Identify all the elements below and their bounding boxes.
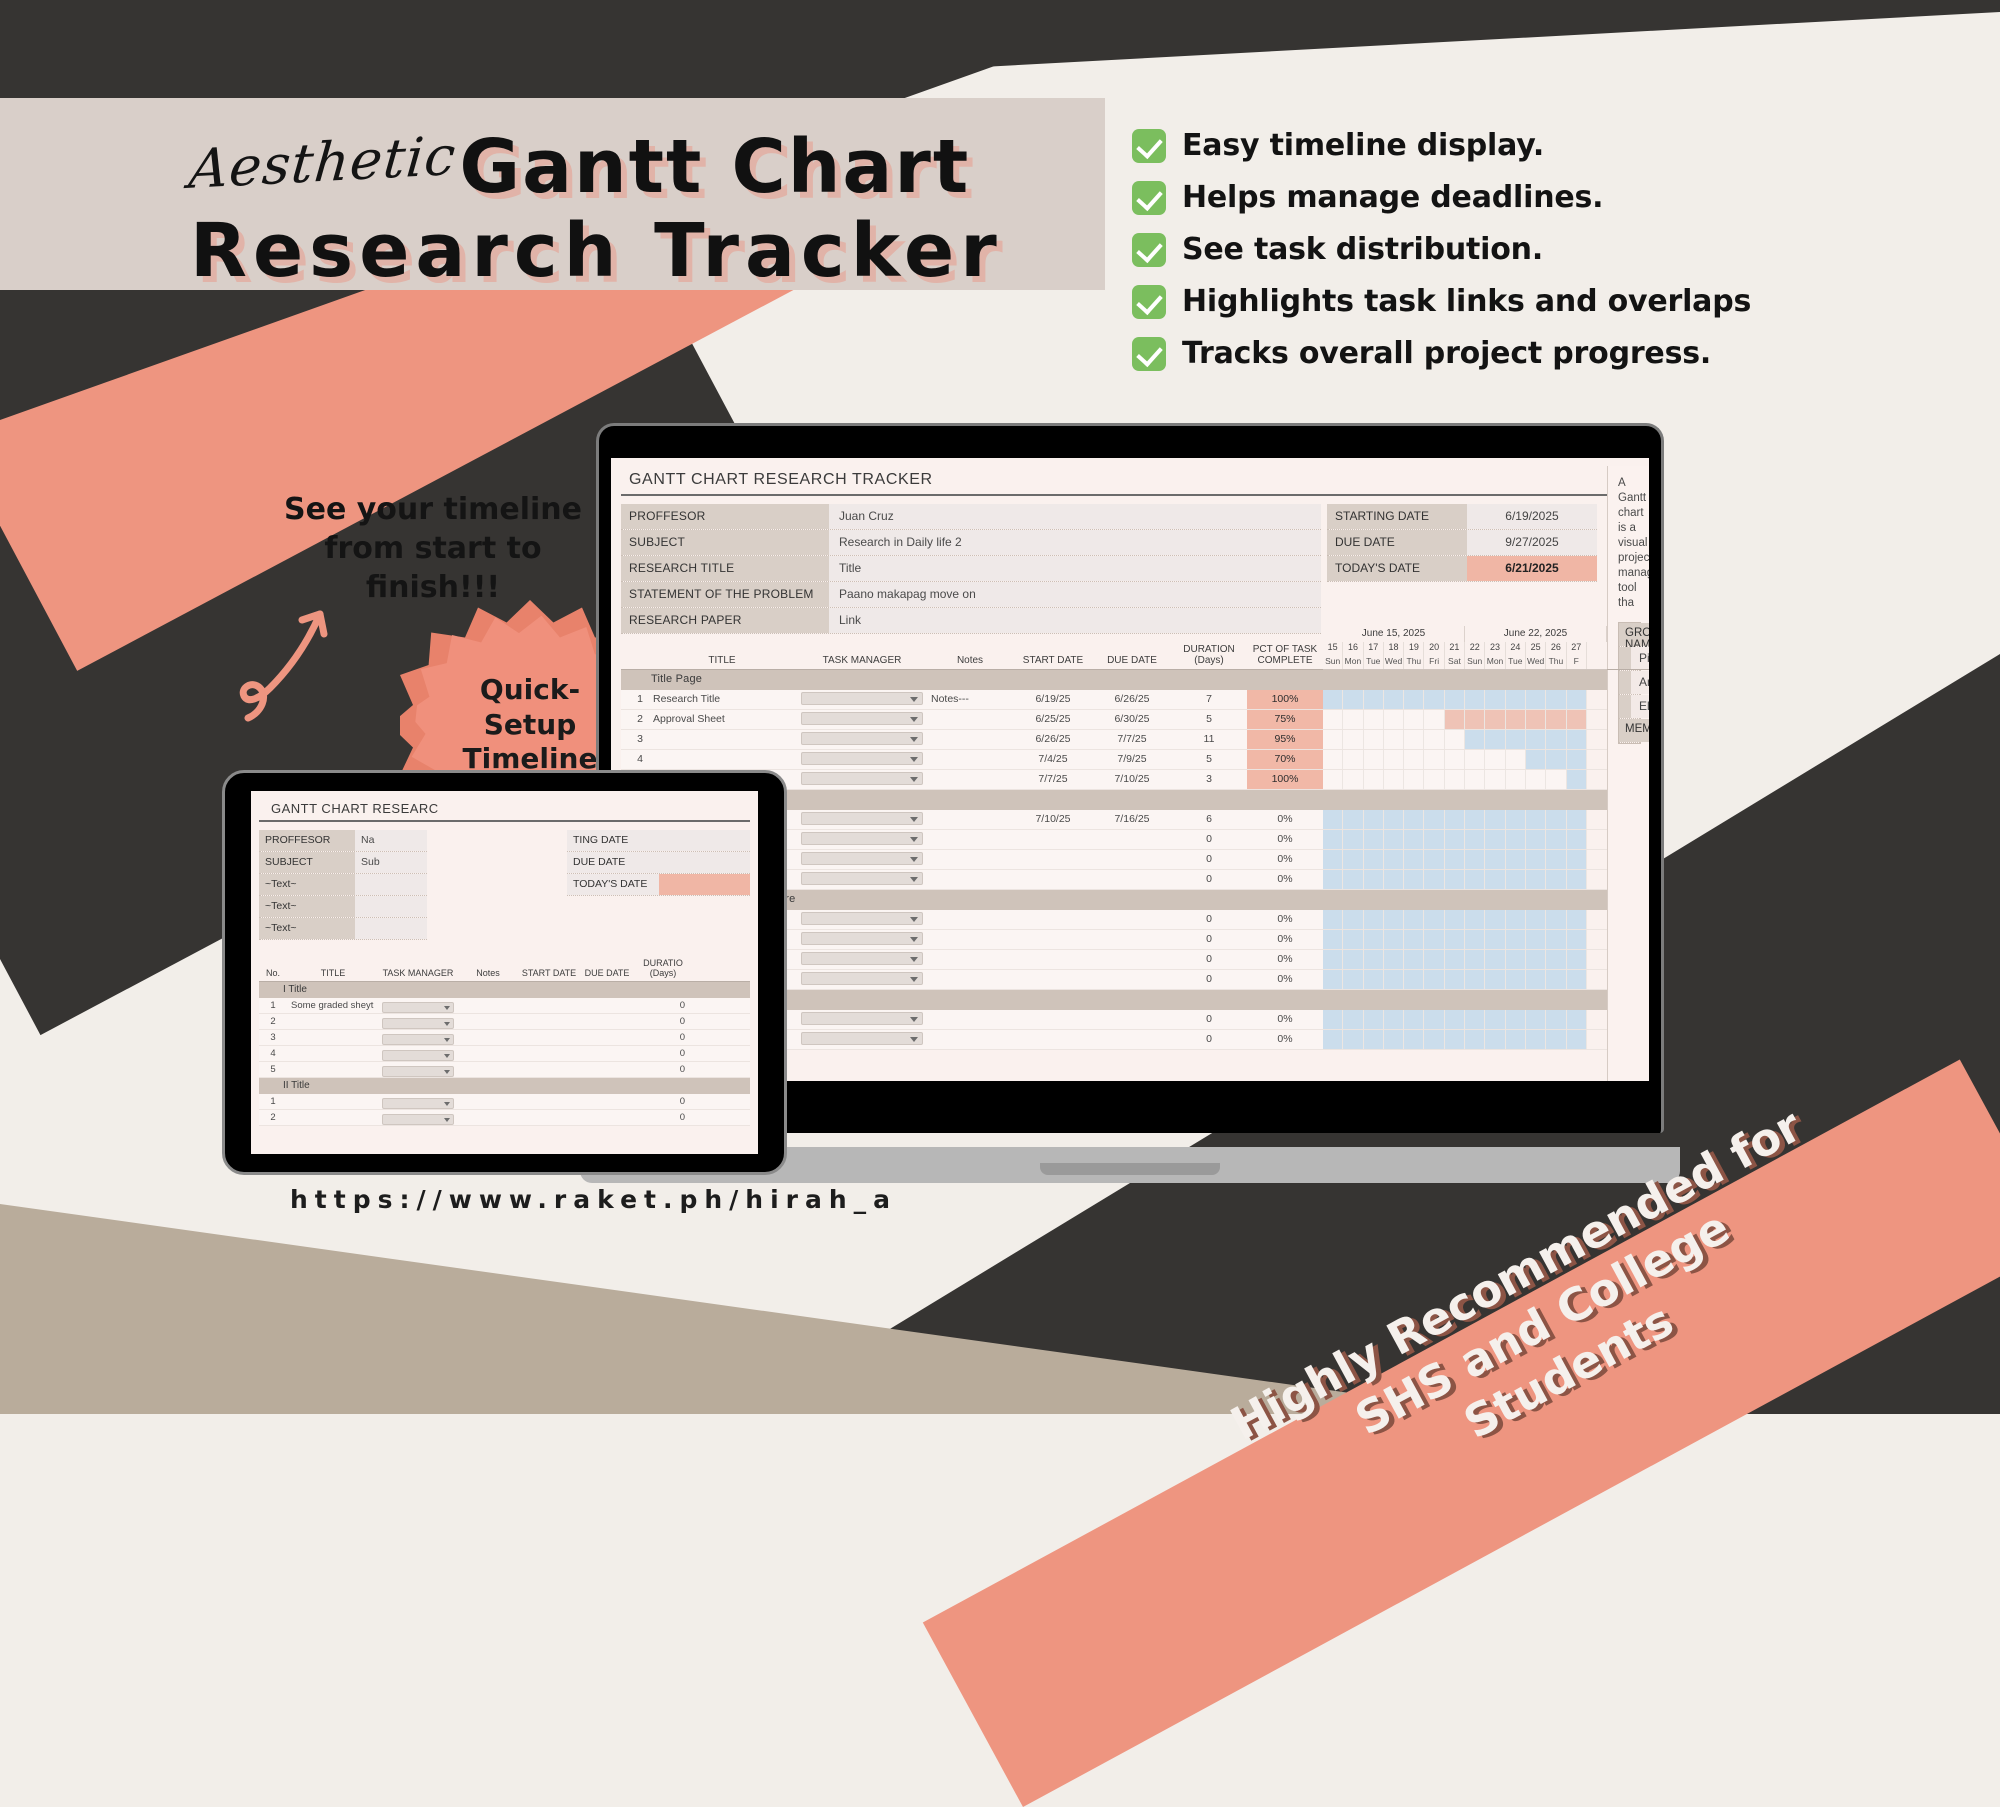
shop-url[interactable]: https://www.raket.ph/hirah_a <box>290 1185 1190 1214</box>
cell-task-manager[interactable] <box>379 1094 457 1109</box>
tagline: See your timeline from start to finish!!… <box>268 490 598 607</box>
gantt-bar-cell <box>1526 1030 1546 1049</box>
chevron-down-icon[interactable] <box>382 1002 454 1013</box>
calendar-weekday: Thu <box>1404 656 1424 669</box>
cell-due-date[interactable] <box>579 1030 635 1045</box>
gantt-bar-cell <box>1445 830 1465 849</box>
cell-start-date[interactable] <box>1013 950 1093 969</box>
cell-due-date[interactable] <box>579 1110 635 1125</box>
table-row: 10 <box>259 1094 750 1110</box>
col-no <box>621 666 647 669</box>
cell-due-date[interactable] <box>1093 1010 1171 1029</box>
tablet-screen: GANTT CHART RESEARC PROFFESOR Na SUBJECT… <box>251 791 758 1154</box>
gantt-bar-cell <box>1364 910 1384 929</box>
gantt-bar-cell <box>1445 690 1465 709</box>
gantt-bar-cell <box>1465 710 1485 729</box>
gantt-bar-cell <box>1323 690 1343 709</box>
chevron-down-icon[interactable] <box>382 1050 454 1061</box>
cell-due-date[interactable]: 7/9/25 <box>1093 750 1171 769</box>
gantt-bar-cell <box>1485 730 1505 749</box>
gantt-empty-cell <box>1424 750 1444 769</box>
gantt-bar-cell <box>1384 1030 1404 1049</box>
chevron-down-icon[interactable] <box>382 1034 454 1045</box>
cell-notes[interactable] <box>927 730 1013 749</box>
cell-pct-complete[interactable]: 0% <box>1247 950 1323 969</box>
cell-no: 3 <box>621 730 647 749</box>
cell-title[interactable]: Approval Sheet <box>647 710 797 729</box>
calendar-weekday: Mon <box>1485 656 1505 669</box>
gantt-bar-cell <box>1526 750 1546 769</box>
cell-notes[interactable] <box>927 870 1013 889</box>
table-row: Elena <box>1619 695 1640 719</box>
gantt-bar-cell <box>1546 970 1566 989</box>
gantt-bar-cell <box>1364 950 1384 969</box>
gantt-bar-cell <box>1526 870 1546 889</box>
gantt-bar-cell <box>1465 950 1485 969</box>
cell-task-manager[interactable] <box>797 910 927 929</box>
cell-task-manager[interactable] <box>797 690 927 709</box>
cell-title[interactable] <box>287 1062 379 1077</box>
date-value[interactable]: 9/27/2025 <box>1467 530 1597 555</box>
info-value[interactable] <box>355 896 427 917</box>
table-row: TODAY'S DATE 6/21/2025 <box>1327 556 1597 582</box>
chevron-down-icon[interactable] <box>801 1032 923 1045</box>
calendar-weekday-row: SunMonTueWedThuFriSatSunMonTueWedThuF <box>1323 656 1607 670</box>
chevron-down-icon[interactable] <box>801 772 923 785</box>
info-value[interactable] <box>355 918 427 939</box>
info-label: PROFFESOR <box>259 830 355 851</box>
gantt-bar-cell <box>1424 870 1444 889</box>
cell-start-date[interactable] <box>1013 850 1093 869</box>
cell-start-date[interactable] <box>1013 1010 1093 1029</box>
cell-task-manager[interactable] <box>379 1030 457 1045</box>
gantt-bar-cell <box>1546 1030 1566 1049</box>
gantt-bar-cell <box>1343 970 1363 989</box>
table-row: DUE DATE 9/27/2025 <box>1327 530 1597 556</box>
gantt-bar-cell <box>1526 910 1546 929</box>
table-row: ~Text~ <box>259 896 427 918</box>
cell-due-date[interactable] <box>1093 950 1171 969</box>
calendar-day: 15 <box>1323 642 1343 656</box>
gantt-bar-cell <box>1485 830 1505 849</box>
laptop-notch <box>1040 1163 1220 1175</box>
cell-task-manager[interactable] <box>797 950 927 969</box>
cell-task-manager[interactable] <box>797 710 927 729</box>
cell-due-date[interactable] <box>579 1062 635 1077</box>
chevron-down-icon[interactable] <box>801 912 923 925</box>
cell-pct-complete[interactable]: 0% <box>1247 850 1323 869</box>
table-row: STATEMENT OF THE PROBLEM Paano makapag m… <box>621 582 1321 608</box>
gantt-bar-cell <box>1404 970 1424 989</box>
cell-due-date[interactable]: 6/26/25 <box>1093 690 1171 709</box>
gantt-bar-cell <box>1384 930 1404 949</box>
info-value[interactable]: Paano makapag move on <box>829 582 1321 607</box>
badge-line-2: Setup <box>484 708 577 743</box>
chevron-down-icon[interactable] <box>801 972 923 985</box>
date-value-today[interactable] <box>659 874 750 895</box>
cell-start-date[interactable]: 7/7/25 <box>1013 770 1093 789</box>
gantt-bar-cell <box>1465 1030 1485 1049</box>
feature-label: Easy timeline display. <box>1182 128 1544 163</box>
cell-start-date[interactable] <box>519 1030 579 1045</box>
col-title: TITLE <box>287 969 379 981</box>
cell-duration: 3 <box>1171 770 1247 789</box>
gantt-bar-cell <box>1424 1010 1444 1029</box>
cell-start-date[interactable] <box>1013 830 1093 849</box>
gantt-bar-cell <box>1364 850 1384 869</box>
cell-due-date[interactable] <box>1093 1030 1171 1049</box>
cell-task-manager[interactable] <box>797 810 927 829</box>
cell-due-date[interactable] <box>1093 850 1171 869</box>
cell-notes[interactable] <box>457 1030 519 1045</box>
gantt-bar-cell <box>1567 750 1587 769</box>
cell-task-manager[interactable] <box>379 1062 457 1077</box>
cell-pct-complete[interactable]: 0% <box>1247 810 1323 829</box>
tablet-task-body: I Title1Some graded sheyt020304050II Tit… <box>259 982 750 1126</box>
cell-start-date[interactable] <box>519 1094 579 1109</box>
chevron-down-icon[interactable] <box>801 812 923 825</box>
info-label: SUBJECT <box>259 852 355 873</box>
chevron-down-icon[interactable] <box>801 752 923 765</box>
table-row: ~Text~ <box>259 918 427 940</box>
cell-title[interactable]: Some graded sheyt <box>287 998 379 1013</box>
cell-start-date[interactable]: 7/4/25 <box>1013 750 1093 769</box>
col-due-date: DUE DATE <box>579 969 635 981</box>
gantt-bar-cell <box>1364 690 1384 709</box>
gantt-bar-cell <box>1445 910 1465 929</box>
date-value[interactable]: 6/19/2025 <box>1467 504 1597 529</box>
gantt-empty-cell <box>1445 750 1465 769</box>
gantt-empty-cell <box>1384 710 1404 729</box>
cell-pct-complete[interactable]: 0% <box>1247 910 1323 929</box>
cell-notes[interactable] <box>927 710 1013 729</box>
table-row: RESEARCH TITLE Title <box>621 556 1321 582</box>
gantt-bar-cell <box>1465 930 1485 949</box>
gantt-bar-cell <box>1526 810 1546 829</box>
chevron-down-icon[interactable] <box>382 1098 454 1109</box>
check-icon <box>1132 285 1166 319</box>
cell-duration: 7 <box>1171 690 1247 709</box>
table-row: STARTING DATE 6/19/2025 <box>1327 504 1597 530</box>
cell-task-manager[interactable] <box>797 970 927 989</box>
cell-notes[interactable] <box>927 930 1013 949</box>
cell-notes[interactable] <box>927 750 1013 769</box>
gantt-bar-cell <box>1384 910 1404 929</box>
cell-no: 2 <box>259 1110 287 1125</box>
cell-pct-complete[interactable]: 95% <box>1247 730 1323 749</box>
chevron-down-icon[interactable] <box>801 932 923 945</box>
date-value-today[interactable]: 6/21/2025 <box>1467 556 1597 581</box>
info-value[interactable]: Na <box>355 830 427 851</box>
gantt-empty-cell <box>1506 770 1526 789</box>
cell-title[interactable] <box>287 1110 379 1125</box>
gantt-bar-cell <box>1546 750 1566 769</box>
gantt-bar-cell <box>1323 830 1343 849</box>
gantt-bar-cell <box>1323 1030 1343 1049</box>
check-icon <box>1132 337 1166 371</box>
cell-start-date[interactable] <box>1013 870 1093 889</box>
col-notes: Notes <box>927 655 1013 669</box>
chevron-down-icon[interactable] <box>801 872 923 885</box>
date-label: STARTING DATE <box>1327 504 1467 529</box>
gantt-empty-cell <box>1424 770 1444 789</box>
chevron-down-icon[interactable] <box>382 1114 454 1125</box>
cell-start-date[interactable] <box>1013 1030 1093 1049</box>
gantt-bar-cell <box>1485 1010 1505 1029</box>
cell-task-manager[interactable] <box>797 830 927 849</box>
gantt-bar-cell <box>1485 930 1505 949</box>
cell-task-manager[interactable] <box>797 1010 927 1029</box>
gantt-bar-cell <box>1343 830 1363 849</box>
chevron-down-icon[interactable] <box>382 1066 454 1077</box>
cell-notes[interactable] <box>927 950 1013 969</box>
cell-start-date[interactable] <box>1013 930 1093 949</box>
gantt-bar-cell <box>1506 1010 1526 1029</box>
calendar-weekday: Sun <box>1465 656 1485 669</box>
spacer-cell <box>1619 695 1631 718</box>
col-no: No. <box>259 969 287 981</box>
cell-notes[interactable] <box>927 910 1013 929</box>
info-value[interactable]: Juan Cruz <box>829 504 1321 529</box>
cell-start-date[interactable] <box>1013 910 1093 929</box>
info-value[interactable]: Research in Daily life 2 <box>829 530 1321 555</box>
cell-notes[interactable] <box>927 970 1013 989</box>
cell-pct-complete[interactable]: 0% <box>1247 930 1323 949</box>
gantt-bar-cell <box>1546 810 1566 829</box>
gantt-empty-cell <box>1323 770 1343 789</box>
gantt-bar-cell <box>1465 1010 1485 1029</box>
cell-task-manager[interactable] <box>379 1110 457 1125</box>
cell-duration: 0 <box>635 1062 691 1077</box>
cell-notes[interactable] <box>927 770 1013 789</box>
cell-due-date[interactable] <box>1093 830 1171 849</box>
info-value[interactable] <box>355 874 427 895</box>
gantt-empty-cell <box>1465 750 1485 769</box>
gantt-bar-cell <box>1506 1030 1526 1049</box>
date-value[interactable] <box>659 830 750 851</box>
gantt-empty-cell <box>1404 770 1424 789</box>
cell-pct-complete[interactable]: 100% <box>1247 770 1323 789</box>
cell-pct-complete[interactable]: 75% <box>1247 710 1323 729</box>
cell-duration: 0 <box>1171 850 1247 869</box>
cell-start-date[interactable] <box>519 1110 579 1125</box>
cell-due-date[interactable] <box>1093 970 1171 989</box>
cell-due-date[interactable] <box>579 1046 635 1061</box>
cell-due-date[interactable] <box>579 1094 635 1109</box>
date-label: DUE DATE <box>567 852 659 873</box>
gantt-bar-cell <box>1384 970 1404 989</box>
gantt-bar-cell <box>1384 810 1404 829</box>
gantt-bar-cell <box>1424 950 1444 969</box>
spacer-cell <box>1619 671 1631 694</box>
gantt-bar-cell <box>1506 810 1526 829</box>
gantt-bar-cell <box>1364 930 1384 949</box>
cell-due-date[interactable] <box>1093 930 1171 949</box>
cell-duration: 0 <box>1171 930 1247 949</box>
cell-due-date[interactable]: 6/30/25 <box>1093 710 1171 729</box>
cell-task-manager[interactable] <box>797 930 927 949</box>
col-title: TITLE <box>647 655 797 669</box>
calendar-weekday: Wed <box>1526 656 1546 669</box>
chevron-down-icon[interactable] <box>801 732 923 745</box>
cell-due-date[interactable]: 7/16/25 <box>1093 810 1171 829</box>
chevron-down-icon[interactable] <box>801 832 923 845</box>
list-item: Highlights task links and overlaps <box>1132 284 1992 319</box>
gantt-bar-cell <box>1343 930 1363 949</box>
gantt-bar-cell <box>1364 870 1384 889</box>
cell-title[interactable]: Research Title <box>647 690 797 709</box>
cell-title[interactable] <box>287 1014 379 1029</box>
cell-task-manager[interactable] <box>379 1014 457 1029</box>
cell-pct-complete[interactable]: 0% <box>1247 1030 1323 1049</box>
gantt-bar-cell <box>1506 690 1526 709</box>
cell-duration: 0 <box>1171 970 1247 989</box>
gantt-bar-cell <box>1404 870 1424 889</box>
member-row[interactable]: Amihan Mira <box>1631 671 1649 694</box>
gantt-empty-cell <box>1364 750 1384 769</box>
cell-title[interactable] <box>287 1094 379 1109</box>
cell-no: 1 <box>259 1094 287 1109</box>
cell-due-date[interactable] <box>1093 910 1171 929</box>
gantt-empty-cell <box>1384 770 1404 789</box>
cell-due-date[interactable]: 7/10/25 <box>1093 770 1171 789</box>
gantt-bar-cell <box>1465 810 1485 829</box>
gantt-bar-cell <box>1323 850 1343 869</box>
cell-due-date[interactable] <box>1093 870 1171 889</box>
feature-list: Easy timeline display. Helps manage dead… <box>1132 128 1992 371</box>
tablet-info-area: PROFFESOR Na SUBJECT Sub ~Text~ ~Text~ <box>259 830 750 940</box>
col-start-date: START DATE <box>519 969 579 981</box>
cell-notes[interactable] <box>457 998 519 1013</box>
gantt-bar-cell <box>1526 850 1546 869</box>
gantt-bar-cell <box>1445 810 1465 829</box>
gantt-row <box>1323 750 1607 770</box>
cell-notes[interactable] <box>927 830 1013 849</box>
gantt-bar-cell <box>1384 950 1404 969</box>
gantt-empty-cell <box>1404 750 1424 769</box>
info-value[interactable]: Title <box>829 556 1321 581</box>
cell-task-manager[interactable] <box>797 850 927 869</box>
cell-title[interactable] <box>287 1046 379 1061</box>
table-row: 40 <box>259 1046 750 1062</box>
gantt-bar-cell <box>1546 830 1566 849</box>
chevron-down-icon[interactable] <box>382 1018 454 1029</box>
feature-label: Highlights task links and overlaps <box>1182 284 1751 319</box>
cell-due-date[interactable]: 7/7/25 <box>1093 730 1171 749</box>
gantt-group-spacer <box>1323 990 1607 1010</box>
cell-notes[interactable] <box>457 1110 519 1125</box>
cell-duration: 6 <box>1171 810 1247 829</box>
cell-pct-complete[interactable]: 100% <box>1247 690 1323 709</box>
table-row: PROFFESOR Na <box>259 830 427 852</box>
cell-task-manager[interactable] <box>797 870 927 889</box>
table-row: MEMBERS Danaya <box>1619 719 1640 743</box>
chevron-down-icon[interactable] <box>801 852 923 865</box>
cell-start-date[interactable] <box>519 1046 579 1061</box>
feature-label: Tracks overall project progress. <box>1182 336 1711 371</box>
calendar-day: 23 <box>1485 642 1505 656</box>
calendar-month: June 22, 2025 <box>1465 626 1607 642</box>
cell-start-date[interactable] <box>519 998 579 1013</box>
cell-pct-complete[interactable]: 0% <box>1247 830 1323 849</box>
cell-duration: 0 <box>1171 1030 1247 1049</box>
cell-notes[interactable]: Notes--- <box>927 690 1013 709</box>
chevron-down-icon[interactable] <box>801 712 923 725</box>
info-label: ~Text~ <box>259 874 355 895</box>
gantt-bar-cell <box>1485 850 1505 869</box>
cell-task-manager[interactable] <box>379 998 457 1013</box>
cell-no: 5 <box>259 1062 287 1077</box>
cell-task-manager[interactable] <box>379 1046 457 1061</box>
gantt-bar-cell <box>1526 730 1546 749</box>
gantt-empty-cell <box>1343 710 1363 729</box>
cell-start-date[interactable] <box>519 1062 579 1077</box>
col-notes: Notes <box>457 969 519 981</box>
gantt-bar-cell <box>1506 930 1526 949</box>
gantt-bar-cell <box>1485 870 1505 889</box>
task-group-header: Title Page <box>621 670 1323 690</box>
date-label: DUE DATE <box>1327 530 1467 555</box>
cell-notes[interactable] <box>457 1046 519 1061</box>
cell-start-date[interactable] <box>1013 970 1093 989</box>
chevron-down-icon[interactable] <box>801 1012 923 1025</box>
cell-notes[interactable] <box>457 1014 519 1029</box>
cell-task-manager[interactable] <box>797 730 927 749</box>
cell-due-date[interactable] <box>579 1014 635 1029</box>
col-duration: DURATION (Days) <box>1171 644 1247 669</box>
cell-notes[interactable] <box>457 1062 519 1077</box>
cell-title[interactable] <box>647 750 797 769</box>
title-word-chart: Chart <box>731 124 970 210</box>
gantt-bar-cell <box>1404 1030 1424 1049</box>
cell-pct-complete[interactable]: 70% <box>1247 750 1323 769</box>
calendar-month-row: June 15, 2025 June 22, 2025 <box>1323 626 1607 642</box>
gantt-empty-cell <box>1323 750 1343 769</box>
check-icon <box>1132 129 1166 163</box>
cell-notes[interactable] <box>457 1094 519 1109</box>
cell-start-date[interactable]: 7/10/25 <box>1013 810 1093 829</box>
cell-title[interactable] <box>287 1030 379 1045</box>
date-value[interactable] <box>659 852 750 873</box>
cell-task-manager[interactable] <box>797 1030 927 1049</box>
chevron-down-icon[interactable] <box>801 952 923 965</box>
table-row: SUBJECT Sub <box>259 852 427 874</box>
cell-notes[interactable] <box>927 850 1013 869</box>
info-label: SUBJECT <box>621 530 829 555</box>
gantt-bar-cell <box>1424 970 1444 989</box>
cell-pct-complete[interactable]: 0% <box>1247 970 1323 989</box>
cell-title[interactable] <box>647 730 797 749</box>
cell-start-date[interactable] <box>519 1014 579 1029</box>
info-label: ~Text~ <box>259 896 355 917</box>
table-row: TODAY'S DATE <box>567 874 750 896</box>
cell-notes[interactable] <box>927 810 1013 829</box>
gantt-bar-cell <box>1546 850 1566 869</box>
info-value[interactable]: Sub <box>355 852 427 873</box>
cell-due-date[interactable] <box>579 998 635 1013</box>
cell-notes[interactable] <box>927 1010 1013 1029</box>
cell-start-date[interactable]: 6/26/25 <box>1013 730 1093 749</box>
cell-notes[interactable] <box>927 1030 1013 1049</box>
cell-start-date[interactable]: 6/25/25 <box>1013 710 1093 729</box>
chevron-down-icon[interactable] <box>801 692 923 705</box>
cell-pct-complete[interactable]: 0% <box>1247 1010 1323 1029</box>
cell-task-manager[interactable] <box>797 750 927 769</box>
member-row[interactable]: Elena <box>1631 695 1649 718</box>
cell-start-date[interactable]: 6/19/25 <box>1013 690 1093 709</box>
cell-pct-complete[interactable]: 0% <box>1247 870 1323 889</box>
cell-task-manager[interactable] <box>797 770 927 789</box>
